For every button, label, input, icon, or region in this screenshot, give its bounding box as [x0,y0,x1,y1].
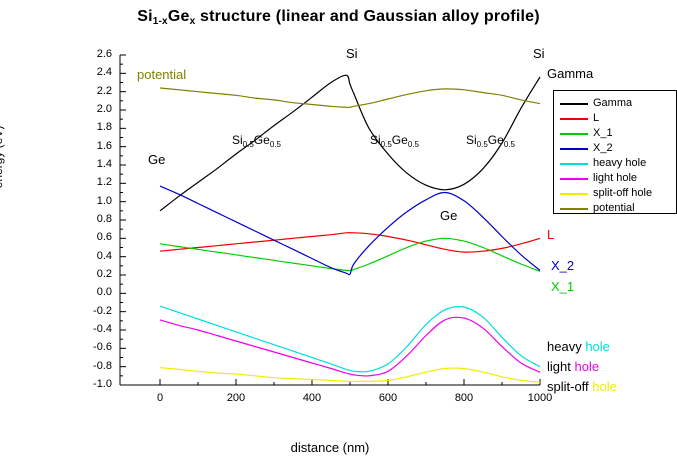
si-label-left: Si [346,47,358,60]
ge-label-mid: Ge [440,209,457,222]
y-tick-label: 2.6 [78,49,112,60]
legend-label: X_2 [593,143,613,154]
y-tick-label: -0.8 [78,361,112,372]
y-tick-label: -0.2 [78,306,112,317]
x-tick-label: 800 [442,393,486,404]
y-tick-label: 2.0 [78,104,112,115]
y-tick-label: 1.8 [78,122,112,133]
y-tick-label: -0.6 [78,342,112,353]
legend-label: split-off hole [593,188,652,199]
sige-label-3: Si0.5Ge0.5 [466,134,515,151]
y-tick-label: 0.0 [78,287,112,298]
series-line-heavy-hole [160,306,540,372]
legend-label: light hole [593,173,637,184]
legend-swatch-icon [560,133,588,135]
y-tick-label: 2.2 [78,86,112,97]
split-off-hole-label: split-off hole [547,380,617,393]
legend-item-gamma[interactable]: Gamma [560,96,676,111]
legend-box: GammaLX_1X_2heavy holelight holesplit-of… [553,90,677,214]
x-tick-label: 600 [366,393,410,404]
y-tick-label: 0.8 [78,214,112,225]
y-tick-label: 0.4 [78,251,112,262]
title-rest: structure (linear and Gaussian alloy pro… [195,8,539,25]
legend-swatch-icon [560,178,588,180]
sige-b: Ge [254,133,270,147]
x1-label: X_1 [551,280,574,293]
sige-sub-a: 0.5 [477,140,488,149]
y-tick-label: 1.2 [78,177,112,188]
legend-label: X_1 [593,128,613,139]
legend-label: L [593,113,599,124]
title-ge: Ge [168,8,190,25]
y-tick-label: 0.6 [78,232,112,243]
legend-label: potential [593,203,635,214]
hole-type-text: heavy [547,339,585,354]
series-line-x-1 [160,238,540,271]
legend-item-l[interactable]: L [560,111,676,126]
y-tick-label: 1.4 [78,159,112,170]
legend-swatch-icon [560,118,588,120]
series-line-potential [160,88,540,107]
l-label: L [547,228,554,241]
sige-sub-a: 0.5 [243,140,254,149]
chart-root: Si1-xGex structure (linear and Gaussian … [0,0,677,476]
legend-item-split-off-hole[interactable]: split-off hole [560,186,676,201]
legend-label: Gamma [593,98,632,109]
plot-area [120,55,540,385]
y-tick-label: -1.0 [78,379,112,390]
sige-sub-a: 0.5 [381,140,392,149]
sige-a: Si [232,133,243,147]
legend-item-potential[interactable]: potential [560,201,676,216]
sige-b: Ge [392,133,408,147]
y-tick-label: 1.6 [78,141,112,152]
series-line-l [160,233,540,253]
title-si: Si [137,8,153,25]
hole-type-text: split-off [547,379,592,394]
si-label-right: Si [533,47,545,60]
legend-swatch-icon [560,103,588,105]
hole-word-text: hole [574,359,599,374]
x-tick-label: 1000 [518,393,562,404]
legend-item-x-2[interactable]: X_2 [560,141,676,156]
light-hole-label: light hole [547,360,599,373]
sige-label-1: Si0.5Ge0.5 [232,134,281,151]
hole-word-text: hole [585,339,610,354]
y-tick-label: -0.4 [78,324,112,335]
legend-swatch-icon [560,148,588,150]
sige-sub-b: 0.5 [270,140,281,149]
y-tick-label: 1.0 [78,196,112,207]
chart-canvas [120,55,540,385]
x2-label: X_2 [551,259,574,272]
x-tick-label: 200 [214,393,258,404]
x-tick-label: 400 [290,393,334,404]
x-tick-label: 0 [138,393,182,404]
legend-label: heavy hole [593,158,646,169]
series-line-x-2 [160,186,540,275]
hole-type-text: light [547,359,574,374]
sige-sub-b: 0.5 [504,140,515,149]
sige-a: Si [370,133,381,147]
legend-swatch-icon [560,208,588,210]
y-tick-label: 2.4 [78,67,112,78]
sige-b: Ge [488,133,504,147]
potential-label: potential [137,68,186,81]
y-tick-label: 0.2 [78,269,112,280]
legend-item-x-1[interactable]: X_1 [560,126,676,141]
title-sub-1x: 1-x [153,16,168,27]
legend-item-light-hole[interactable]: light hole [560,171,676,186]
legend-item-heavy-hole[interactable]: heavy hole [560,156,676,171]
page-title: Si1-xGex structure (linear and Gaussian … [0,8,677,27]
sige-sub-b: 0.5 [408,140,419,149]
series-line-light-hole [160,317,540,376]
ge-label-left: Ge [148,153,165,166]
gamma-label: Gamma [547,67,593,80]
y-axis-label: energy (eV) [0,97,5,217]
sige-label-2: Si0.5Ge0.5 [370,134,419,151]
hole-word-text: hole [592,379,617,394]
heavy-hole-label: heavy hole [547,340,610,353]
legend-swatch-icon [560,193,588,195]
legend-swatch-icon [560,163,588,165]
sige-a: Si [466,133,477,147]
x-axis-label: distance (nm) [120,440,540,455]
